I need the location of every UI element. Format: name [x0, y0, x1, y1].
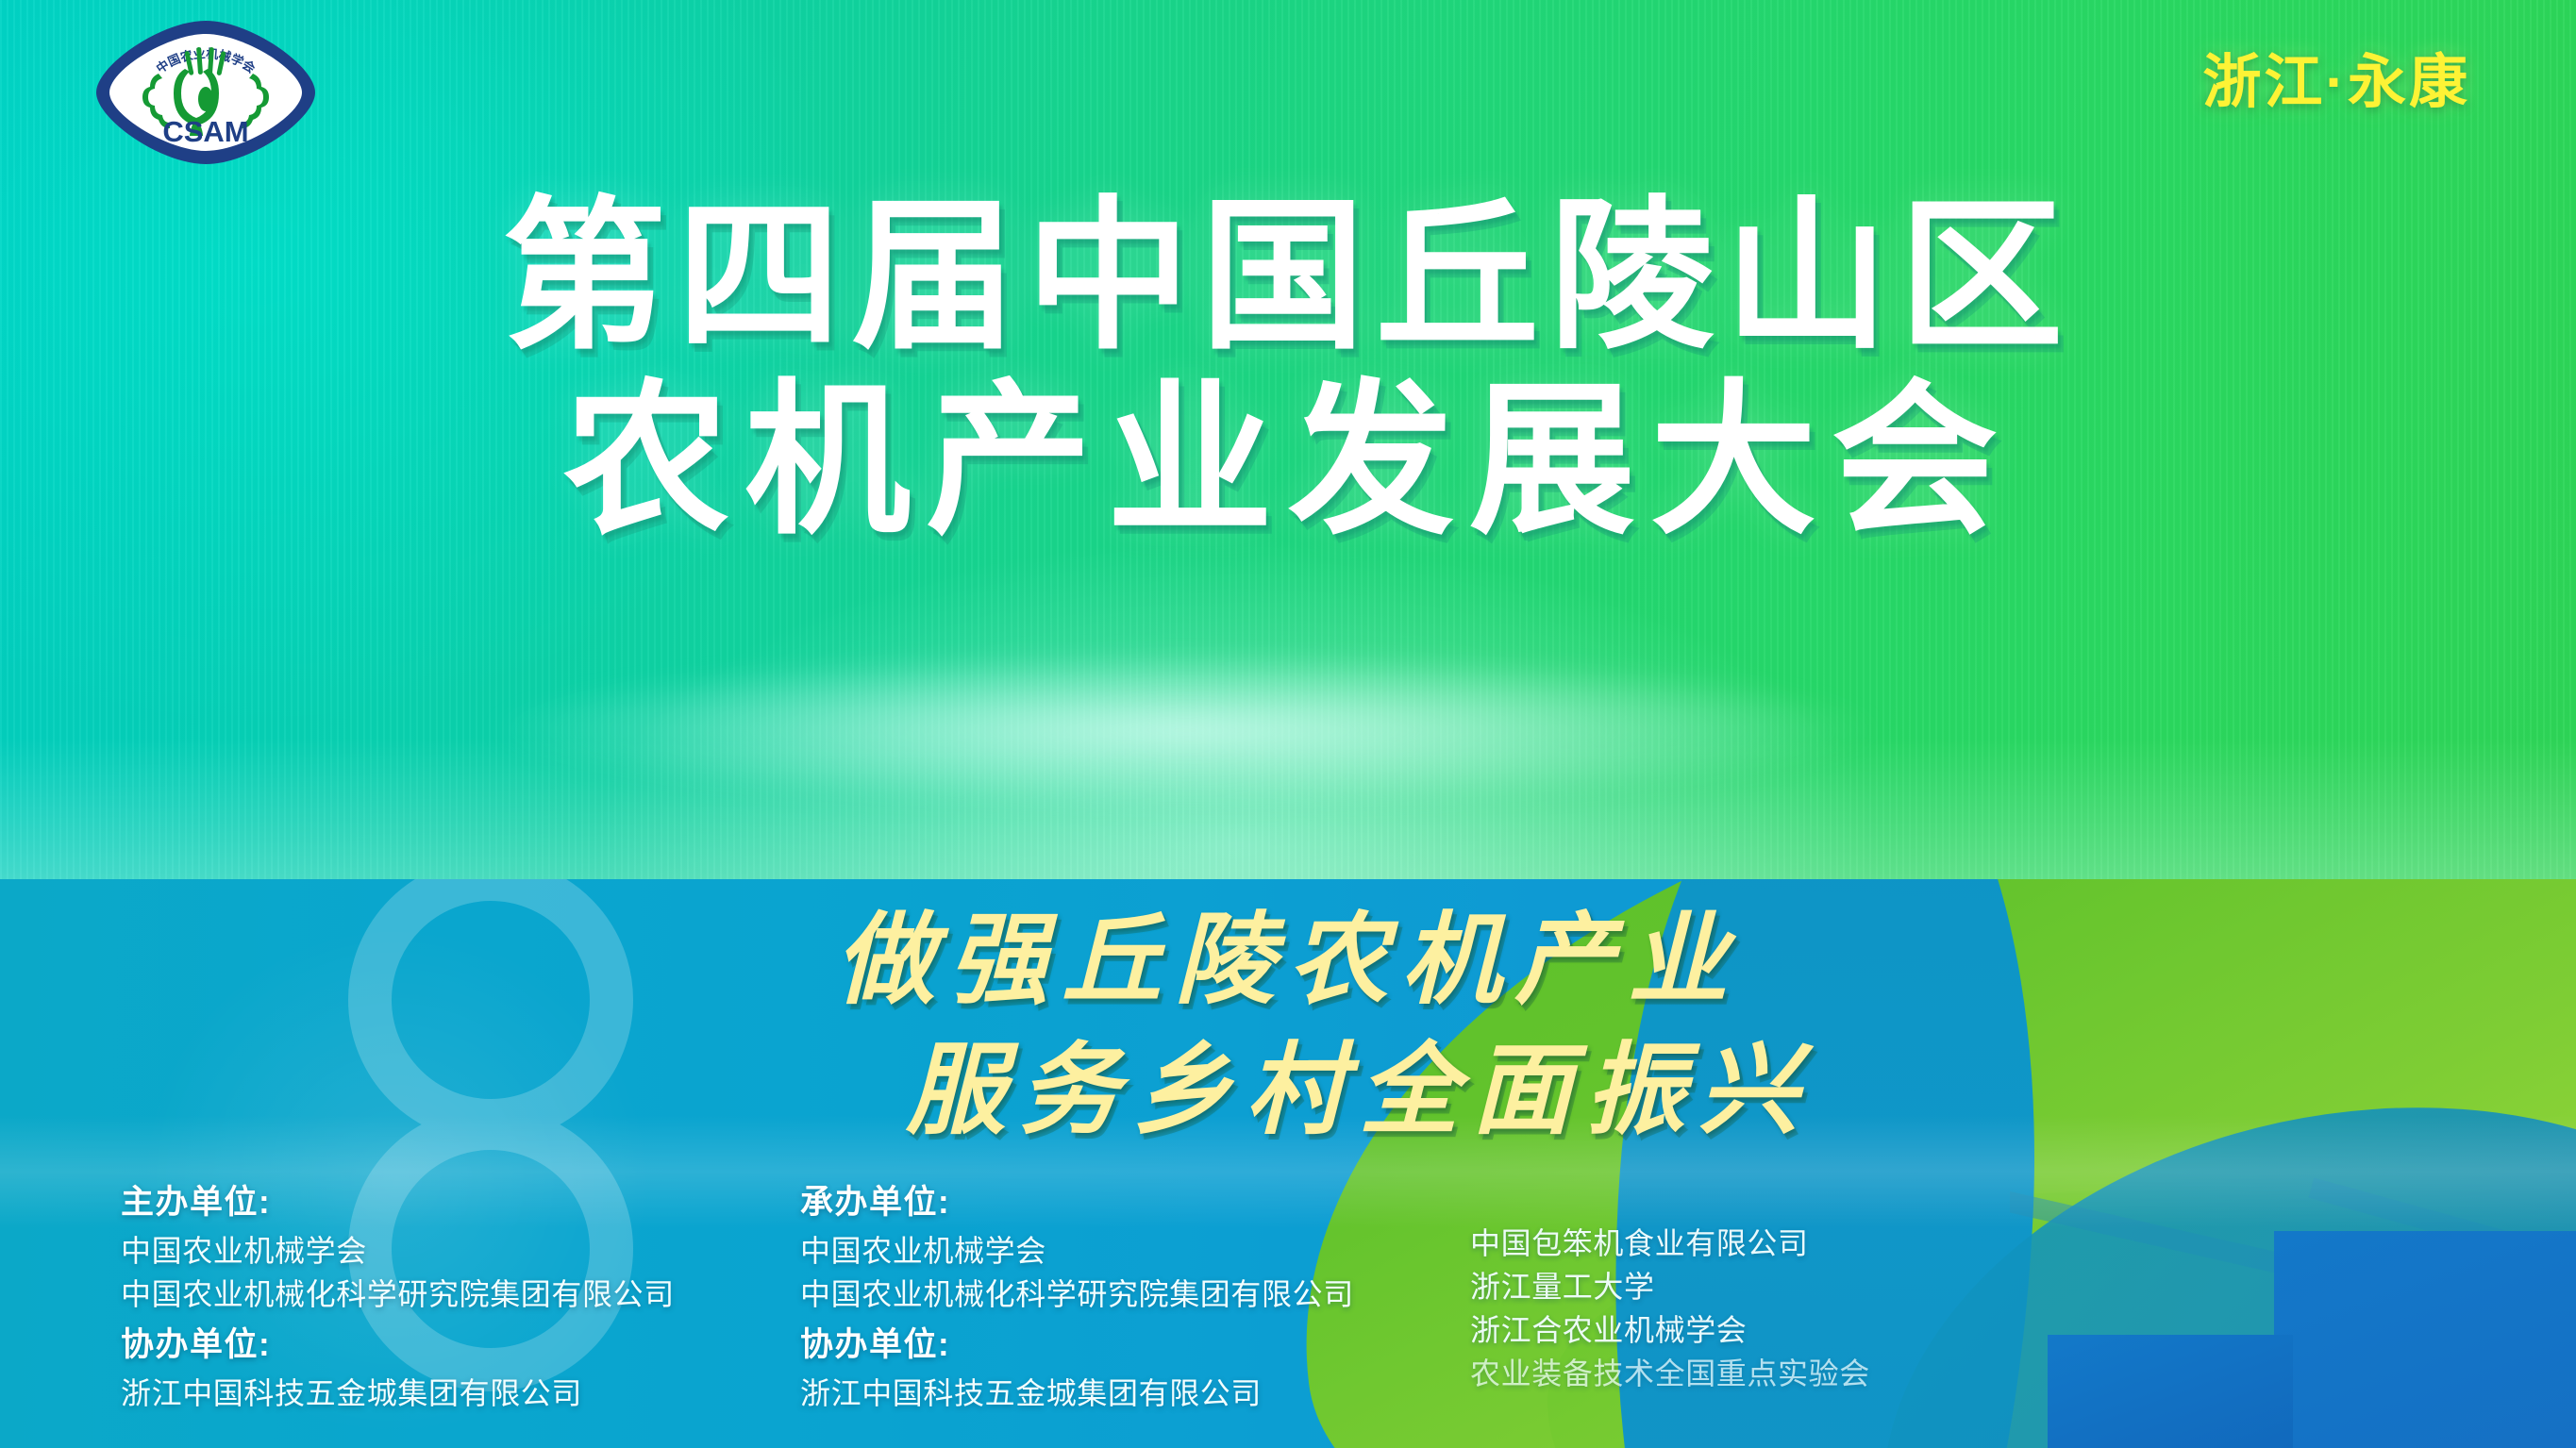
co-host-item: 浙江中国科技五金城集团有限公司: [121, 1372, 800, 1415]
conference-backdrop: 中国农业机械学会 CSAM 浙: [0, 0, 2576, 1448]
event-location: 浙江·永康: [2202, 34, 2470, 119]
supporter-item: 浙江合农业机械学会: [1470, 1308, 2319, 1352]
co-host-heading: 协办单位:: [121, 1322, 800, 1370]
co-organizer-item: 浙江中国科技五金城集团有限公司: [800, 1372, 1470, 1415]
logo-acronym: CSAM: [162, 115, 248, 148]
page-title: 第四届中国丘陵山区 农机产业发展大会: [0, 185, 2576, 555]
organizer-item: 中国农业机械化科学研究院集团有限公司: [800, 1273, 1470, 1316]
banner-bottom-section: 做强丘陵农机产业 服务乡村全面振兴 主办单位: 中国农业机械学会 中国农业机械化…: [0, 879, 2576, 1448]
title-line-2: 农机产业发展大会: [0, 369, 2576, 555]
host-item: 中国农业机械化科学研究院集团有限公司: [121, 1273, 800, 1316]
organizer-item: 中国农业机械学会: [800, 1229, 1470, 1273]
csam-logo: 中国农业机械学会 CSAM: [92, 17, 319, 168]
organizer-heading: 承办单位:: [800, 1179, 1470, 1227]
banner-top-section: 中国农业机械学会 CSAM 浙: [0, 0, 2576, 879]
sponsor-organizations: 主办单位: 中国农业机械学会 中国农业机械化科学研究院集团有限公司 协办单位: …: [121, 1179, 2367, 1415]
sponsor-column-supporters: 中国包笨机食业有限公司 浙江量工大学 浙江合农业机械学会 农业装备技术全国重点实…: [1470, 1179, 2319, 1415]
supporter-item: 浙江量工大学: [1470, 1265, 2319, 1308]
host-heading: 主办单位:: [121, 1179, 800, 1227]
co-organizer-heading: 协办单位:: [800, 1322, 1470, 1370]
supporter-item: 农业装备技术全国重点实验会: [1470, 1352, 2319, 1395]
supporter-item: 中国包笨机食业有限公司: [1470, 1222, 2319, 1265]
sponsor-column-organizer: 承办单位: 中国农业机械学会 中国农业机械化科学研究院集团有限公司 协办单位: …: [800, 1179, 1470, 1415]
sponsor-column-host: 主办单位: 中国农业机械学会 中国农业机械化科学研究院集团有限公司 协办单位: …: [121, 1179, 800, 1415]
host-item: 中国农业机械学会: [121, 1229, 800, 1273]
title-line-1: 第四届中国丘陵山区: [0, 185, 2576, 369]
light-sheen: [477, 650, 1893, 810]
